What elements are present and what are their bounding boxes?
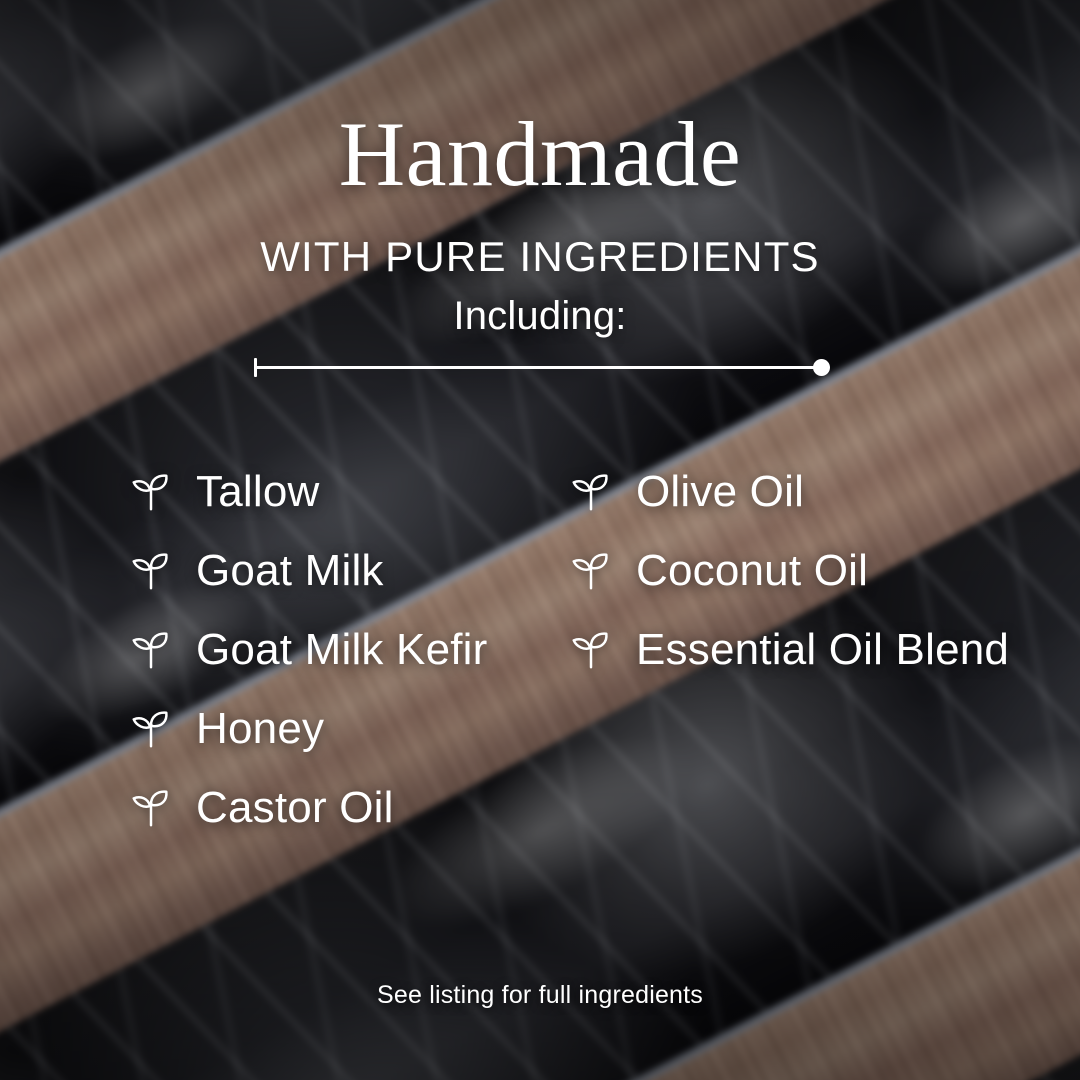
- list-item: Castor Oil: [128, 768, 488, 847]
- subtitle: WITH PURE INGREDIENTS: [0, 236, 1080, 278]
- ingredient-label: Essential Oil Blend: [636, 628, 1009, 672]
- divider: [254, 355, 826, 381]
- ingredient-label: Goat Milk: [196, 549, 384, 593]
- list-item: Essential Oil Blend: [568, 610, 1009, 689]
- ingredient-label: Castor Oil: [196, 786, 394, 830]
- ingredient-column-left: Tallow Goat Milk Goat Milk Kefir: [128, 452, 488, 847]
- sprout-icon: [128, 469, 174, 515]
- ingredient-label: Tallow: [196, 470, 319, 514]
- ingredient-label: Honey: [196, 707, 324, 751]
- including-label: Including:: [0, 296, 1080, 336]
- ingredient-label: Olive Oil: [636, 470, 804, 514]
- sprout-icon: [568, 627, 614, 673]
- footnote: See listing for full ingredients: [0, 983, 1080, 1008]
- list-item: Goat Milk: [128, 531, 488, 610]
- list-item: Coconut Oil: [568, 531, 1009, 610]
- list-item: Olive Oil: [568, 452, 1009, 531]
- ingredient-label: Goat Milk Kefir: [196, 628, 488, 672]
- promo-graphic: Handmade WITH PURE INGREDIENTS Including…: [0, 0, 1080, 1080]
- ingredient-column-right: Olive Oil Coconut Oil Essential Oil Blen…: [568, 452, 1009, 689]
- sprout-icon: [128, 548, 174, 594]
- list-item: Goat Milk Kefir: [128, 610, 488, 689]
- sprout-icon: [568, 548, 614, 594]
- page-title: Handmade: [0, 108, 1080, 200]
- ingredient-label: Coconut Oil: [636, 549, 868, 593]
- content-layer: Handmade WITH PURE INGREDIENTS Including…: [0, 0, 1080, 1080]
- divider-rule: [254, 366, 826, 369]
- sprout-icon: [128, 627, 174, 673]
- list-item: Honey: [128, 689, 488, 768]
- list-item: Tallow: [128, 452, 488, 531]
- sprout-icon: [128, 706, 174, 752]
- dot-marker-icon: [813, 359, 830, 376]
- sprout-icon: [568, 469, 614, 515]
- sprout-icon: [128, 785, 174, 831]
